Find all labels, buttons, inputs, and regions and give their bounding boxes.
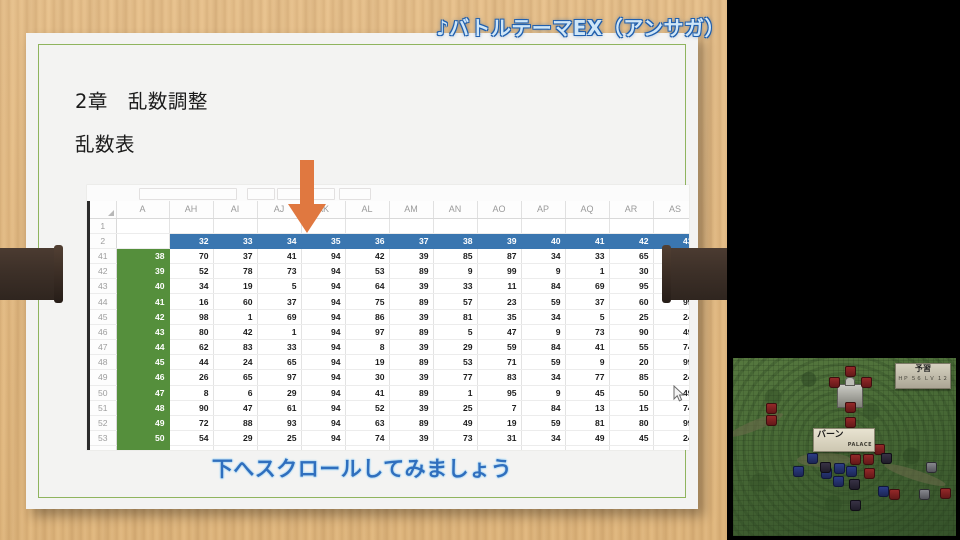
cell-AP[interactable]: 84: [521, 340, 565, 355]
row-number-53[interactable]: 53: [90, 431, 116, 446]
column-header-AH[interactable]: AH: [169, 201, 213, 218]
hud-stats: ＨＰ ５６ ＬＶ １２: [895, 375, 951, 383]
cell-AQ[interactable]: [565, 218, 609, 233]
cell-AO[interactable]: 87: [477, 248, 521, 263]
table-row[interactable]: 504786299441891959455049: [90, 385, 689, 400]
cell-AS[interactable]: 24: [653, 370, 689, 385]
cell-AM[interactable]: 89: [389, 385, 433, 400]
table-row[interactable]: 1: [90, 218, 689, 233]
cell-AR[interactable]: 25: [609, 309, 653, 324]
cell-AI[interactable]: 70: [213, 446, 257, 450]
column-header-AI[interactable]: AI: [213, 201, 257, 218]
cell-AO[interactable]: 11: [477, 279, 521, 294]
row-number-43[interactable]: 43: [90, 279, 116, 294]
row-number-54[interactable]: 54: [90, 446, 116, 450]
cell-AS[interactable]: 43: [653, 233, 689, 248]
column-header-AP[interactable]: AP: [521, 201, 565, 218]
cell-A[interactable]: 40: [116, 279, 169, 294]
cell-AJ[interactable]: 73: [257, 264, 301, 279]
cell-A[interactable]: 38: [116, 248, 169, 263]
cell-AH[interactable]: 36: [169, 446, 213, 450]
cell-AP[interactable]: 84: [521, 279, 565, 294]
cell-AR[interactable]: 60: [609, 294, 653, 309]
cell-AQ[interactable]: 17: [565, 446, 609, 450]
cell-AM[interactable]: 39: [389, 248, 433, 263]
cell-AS[interactable]: 99: [653, 355, 689, 370]
cell-AH[interactable]: 52: [169, 264, 213, 279]
cell-AK[interactable]: 94: [301, 248, 345, 263]
cell-AR[interactable]: 95: [609, 279, 653, 294]
cell-AL[interactable]: 52: [345, 400, 389, 415]
cell-AR[interactable]: 30: [609, 264, 653, 279]
cell-AO[interactable]: 83: [477, 370, 521, 385]
cell-AO[interactable]: 95: [477, 385, 521, 400]
cell-AQ[interactable]: 69: [565, 279, 609, 294]
map-place-subtitle: PALACE: [817, 442, 872, 449]
cell-AK[interactable]: 35: [301, 233, 345, 248]
cell-A[interactable]: 46: [116, 370, 169, 385]
cell-AN[interactable]: 85: [433, 248, 477, 263]
cell-AH[interactable]: 98: [169, 309, 213, 324]
table-row[interactable]: 4138703741944239858734336524: [90, 248, 689, 263]
cell-AL[interactable]: 75: [345, 294, 389, 309]
cell-AQ[interactable]: 9: [565, 355, 609, 370]
name-box-ghost-text: [143, 189, 145, 195]
cell-AK[interactable]: 94: [301, 370, 345, 385]
cell-AJ[interactable]: 65: [257, 355, 301, 370]
cell-AR[interactable]: 90: [609, 324, 653, 339]
cell-AJ[interactable]: 93: [257, 415, 301, 430]
table-row[interactable]: 484544246594198953715992099: [90, 355, 689, 370]
cell-AQ[interactable]: 77: [565, 370, 609, 385]
cell-AS[interactable]: 99: [653, 415, 689, 430]
cell-AR[interactable]: 55: [609, 340, 653, 355]
cell-AL[interactable]: 8: [345, 340, 389, 355]
cell-AL[interactable]: 19: [345, 355, 389, 370]
cell-AJ[interactable]: 57: [257, 446, 301, 450]
cell-AM[interactable]: [389, 218, 433, 233]
cell-AI[interactable]: 78: [213, 264, 257, 279]
cell-AJ[interactable]: 1: [257, 324, 301, 339]
cell-AM[interactable]: 89: [389, 264, 433, 279]
cell-AN[interactable]: 33: [433, 279, 477, 294]
cell-A[interactable]: 50: [116, 431, 169, 446]
cell-AM[interactable]: 89: [389, 355, 433, 370]
row-number-48[interactable]: 48: [90, 355, 116, 370]
cell-AQ[interactable]: 41: [565, 233, 609, 248]
cell-A[interactable]: 39: [116, 264, 169, 279]
wooden-rod-right: [667, 248, 727, 300]
cell-AK[interactable]: 94: [301, 385, 345, 400]
cell-AM[interactable]: 39: [389, 400, 433, 415]
other-unit: [881, 453, 892, 464]
cell-AR[interactable]: [609, 218, 653, 233]
cell-AO[interactable]: 71: [477, 355, 521, 370]
cell-AH[interactable]: 90: [169, 400, 213, 415]
cell-AI[interactable]: 19: [213, 279, 257, 294]
row-number-1[interactable]: 1: [90, 218, 116, 233]
enemy-unit: [845, 417, 856, 428]
rod-cap-left: [54, 245, 63, 303]
row-number-2[interactable]: 2: [90, 233, 116, 248]
cell-AO[interactable]: 7: [477, 400, 521, 415]
cell-AJ[interactable]: 69: [257, 309, 301, 324]
cell-A[interactable]: 45: [116, 355, 169, 370]
cell-AI[interactable]: 1: [213, 309, 257, 324]
cell-AL[interactable]: 30: [345, 370, 389, 385]
table-row[interactable]: 514890476194523925784131574: [90, 400, 689, 415]
column-header-A[interactable]: A: [116, 201, 169, 218]
cell-AL[interactable]: 42: [345, 248, 389, 263]
cell-AP[interactable]: 9: [521, 264, 565, 279]
cell-AN[interactable]: 57: [433, 294, 477, 309]
cell-AM[interactable]: 39: [389, 431, 433, 446]
table-row[interactable]: 474462833394839295984415574: [90, 340, 689, 355]
table-row[interactable]: 4239527873945389999913049: [90, 264, 689, 279]
cell-AK[interactable]: 94: [301, 415, 345, 430]
cell-AH[interactable]: 54: [169, 431, 213, 446]
cell-AK[interactable]: 94: [301, 431, 345, 446]
cell-AM[interactable]: 89: [389, 415, 433, 430]
slide-caption: 下へスクロールしてみましょう: [26, 453, 698, 483]
cell-AR[interactable]: 45: [609, 431, 653, 446]
cell-AN[interactable]: 38: [433, 233, 477, 248]
cell-AO[interactable]: 43: [477, 446, 521, 450]
cell-AK[interactable]: 94: [301, 279, 345, 294]
player-unit: [807, 453, 818, 464]
cell-AQ[interactable]: 37: [565, 294, 609, 309]
cell-AN[interactable]: 97: [433, 446, 477, 450]
cell-AQ[interactable]: 33: [565, 248, 609, 263]
cell-AK[interactable]: 94: [301, 324, 345, 339]
cell-AI[interactable]: [213, 218, 257, 233]
cell-AN[interactable]: 49: [433, 415, 477, 430]
cell-AJ[interactable]: 34: [257, 233, 301, 248]
cell-AR[interactable]: 85: [609, 370, 653, 385]
cell-AL[interactable]: 74: [345, 431, 389, 446]
cell-AM[interactable]: 39: [389, 309, 433, 324]
cell-AP[interactable]: 9: [521, 324, 565, 339]
column-header-AL[interactable]: AL: [345, 201, 389, 218]
cell-AM[interactable]: 37: [389, 233, 433, 248]
table-row[interactable]: 5249728893946389491959818099: [90, 415, 689, 430]
screen-capture: ♪バトルテーマEX（アンサガ） 2章 乱数調整 乱数表: [0, 0, 960, 540]
column-header-AQ[interactable]: AQ: [565, 201, 609, 218]
column-header-AS[interactable]: AS: [653, 201, 689, 218]
cell-AM[interactable]: 89: [389, 294, 433, 309]
cell-A[interactable]: 44: [116, 340, 169, 355]
cell-AN[interactable]: 77: [433, 370, 477, 385]
select-all-corner[interactable]: [90, 201, 116, 218]
cell-AL[interactable]: 97: [345, 324, 389, 339]
cell-AR[interactable]: 20: [609, 355, 653, 370]
presentation-slide: 2章 乱数調整 乱数表: [26, 33, 698, 509]
table-row[interactable]: 4946266597943039778334778524: [90, 370, 689, 385]
name-box: [139, 188, 237, 200]
cell-AN[interactable]: 9: [433, 264, 477, 279]
toolbar-chip-1: [247, 188, 275, 200]
cell-A[interactable]: 51: [116, 446, 169, 450]
column-header-AO[interactable]: AO: [477, 201, 521, 218]
cell-AP[interactable]: 34: [521, 431, 565, 446]
table-row[interactable]: 4441166037947589572359376099: [90, 294, 689, 309]
down-arrow-icon: [287, 160, 327, 234]
row-number-50[interactable]: 50: [90, 385, 116, 400]
cell-AL[interactable]: 63: [345, 415, 389, 430]
enemy-unit: [766, 415, 777, 426]
cell-AQ[interactable]: 81: [565, 415, 609, 430]
other-unit: [919, 489, 930, 500]
cell-AH[interactable]: 62: [169, 340, 213, 355]
cell-AS[interactable]: 49: [653, 324, 689, 339]
row-number-42[interactable]: 42: [90, 264, 116, 279]
other-unit: [926, 462, 937, 473]
cell-AI[interactable]: 37: [213, 248, 257, 263]
enemy-unit: [845, 402, 856, 413]
player-unit: [878, 486, 889, 497]
row-number-49[interactable]: 49: [90, 370, 116, 385]
enemy-unit: [845, 366, 856, 377]
cell-AK[interactable]: 94: [301, 294, 345, 309]
wooden-rod-left: [0, 248, 58, 300]
cell-AO[interactable]: 39: [477, 233, 521, 248]
cell-AJ[interactable]: 61: [257, 400, 301, 415]
row-number-46[interactable]: 46: [90, 324, 116, 339]
cell-AP[interactable]: 40: [521, 233, 565, 248]
cell-AN[interactable]: 29: [433, 340, 477, 355]
cell-AP[interactable]: 34: [521, 370, 565, 385]
slide-heading-table: 乱数表: [75, 128, 135, 157]
enemy-unit: [766, 403, 777, 414]
cell-AN[interactable]: [433, 218, 477, 233]
player-unit: [834, 463, 845, 474]
cell-AS[interactable]: 74: [653, 340, 689, 355]
cell-A[interactable]: 41: [116, 294, 169, 309]
cell-A[interactable]: 43: [116, 324, 169, 339]
game-hud-panel: 予習 ＨＰ ５６ ＬＶ １２: [895, 363, 951, 389]
mouse-cursor-icon: [673, 385, 686, 403]
cell-AI[interactable]: 60: [213, 294, 257, 309]
cell-A[interactable]: 48: [116, 400, 169, 415]
row-number-41[interactable]: 41: [90, 248, 116, 263]
cell-AI[interactable]: 24: [213, 355, 257, 370]
row-number-52[interactable]: 52: [90, 415, 116, 430]
row-number-45[interactable]: 45: [90, 309, 116, 324]
cell-AQ[interactable]: 41: [565, 340, 609, 355]
cell-AO[interactable]: 59: [477, 340, 521, 355]
cell-AL[interactable]: 53: [345, 264, 389, 279]
cell-AR[interactable]: 10: [609, 446, 653, 450]
cell-AH[interactable]: 44: [169, 355, 213, 370]
row-number-47[interactable]: 47: [90, 340, 116, 355]
cell-AK[interactable]: 94: [301, 340, 345, 355]
cell-AJ[interactable]: 41: [257, 248, 301, 263]
cell-AR[interactable]: 15: [609, 400, 653, 415]
cell-AI[interactable]: 65: [213, 370, 257, 385]
cell-AS[interactable]: 24: [653, 431, 689, 446]
cell-AL[interactable]: [345, 218, 389, 233]
cell-AH[interactable]: 80: [169, 324, 213, 339]
cell-AS[interactable]: 49: [653, 446, 689, 450]
cell-AP[interactable]: 9: [521, 385, 565, 400]
map-place-name: バーン: [817, 430, 844, 440]
cell-AN[interactable]: 81: [433, 309, 477, 324]
table-body: 1232333435363738394041424341387037419442…: [90, 218, 689, 450]
player-unit: [846, 466, 857, 477]
cell-AN[interactable]: 1: [433, 385, 477, 400]
cell-AR[interactable]: 42: [609, 233, 653, 248]
cell-AH[interactable]: 8: [169, 385, 213, 400]
cell-AR[interactable]: 50: [609, 385, 653, 400]
cell-AL[interactable]: 36: [345, 233, 389, 248]
cell-AK[interactable]: 94: [301, 264, 345, 279]
cell-AR[interactable]: 65: [609, 248, 653, 263]
cell-AH[interactable]: 34: [169, 279, 213, 294]
cell-AI[interactable]: 83: [213, 340, 257, 355]
toolbar-chip-4: [339, 188, 371, 200]
excel-toolbar-strip: [87, 185, 689, 202]
cell-AK[interactable]: 94: [301, 355, 345, 370]
cell-AK[interactable]: 94: [301, 309, 345, 324]
cell-AO[interactable]: 23: [477, 294, 521, 309]
cell-AI[interactable]: 33: [213, 233, 257, 248]
player-unit: [793, 466, 804, 477]
other-unit: [820, 462, 831, 473]
cell-AM[interactable]: 39: [389, 279, 433, 294]
cell-AM[interactable]: 89: [389, 324, 433, 339]
cell-AL[interactable]: 41: [345, 385, 389, 400]
table-row[interactable]: 4643804219497895479739049: [90, 324, 689, 339]
bgm-overlay-title: ♪バトルテーマEX（アンサガ）: [380, 12, 725, 41]
cell-AL[interactable]: 85: [345, 446, 389, 450]
enemy-unit: [829, 377, 840, 388]
cell-AO[interactable]: 99: [477, 264, 521, 279]
column-header-row[interactable]: A AH AI AJ AK AL AM AN AO AP AQ AR AS AT: [90, 201, 689, 218]
column-header-AM[interactable]: AM: [389, 201, 433, 218]
table-row[interactable]: 45429816994863981353452524: [90, 309, 689, 324]
slide-heading-chapter: 2章 乱数調整: [75, 85, 208, 114]
table-row[interactable]: 545136705794858997439171049: [90, 446, 689, 450]
enemy-unit: [861, 377, 872, 388]
cell-AH[interactable]: 72: [169, 415, 213, 430]
cell-AO[interactable]: 19: [477, 415, 521, 430]
cell-AO[interactable]: [477, 218, 521, 233]
cell-AL[interactable]: 64: [345, 279, 389, 294]
column-header-AR[interactable]: AR: [609, 201, 653, 218]
cell-AI[interactable]: 42: [213, 324, 257, 339]
cell-AP[interactable]: 84: [521, 400, 565, 415]
cell-AR[interactable]: 80: [609, 415, 653, 430]
row-number-44[interactable]: 44: [90, 294, 116, 309]
enemy-unit: [889, 489, 900, 500]
cell-AN[interactable]: 53: [433, 355, 477, 370]
cell-AJ[interactable]: 25: [257, 431, 301, 446]
cell-AJ[interactable]: 97: [257, 370, 301, 385]
cell-AQ[interactable]: 1: [565, 264, 609, 279]
cell-AS[interactable]: [653, 218, 689, 233]
cell-AK[interactable]: 94: [301, 400, 345, 415]
cell-AM[interactable]: 39: [389, 340, 433, 355]
table-row[interactable]: 2323334353637383940414243: [90, 233, 689, 248]
cell-AN[interactable]: 73: [433, 431, 477, 446]
cell-A[interactable]: [116, 218, 169, 233]
cell-AP[interactable]: 34: [521, 309, 565, 324]
other-unit: [849, 479, 860, 490]
cell-A[interactable]: 47: [116, 385, 169, 400]
cell-AH[interactable]: 26: [169, 370, 213, 385]
cell-AJ[interactable]: 29: [257, 385, 301, 400]
excel-screenshot: A AH AI AJ AK AL AM AN AO AP AQ AR AS AT: [87, 185, 689, 450]
enemy-unit: [940, 488, 951, 499]
cell-AI[interactable]: 47: [213, 400, 257, 415]
cell-AL[interactable]: 86: [345, 309, 389, 324]
cell-A[interactable]: 49: [116, 415, 169, 430]
cell-AQ[interactable]: 5: [565, 309, 609, 324]
cell-AK[interactable]: 94: [301, 446, 345, 450]
table-row[interactable]: 5350542925947439733134494524: [90, 431, 689, 446]
rod-cap-right: [662, 245, 671, 303]
cell-AI[interactable]: 88: [213, 415, 257, 430]
cell-AP[interactable]: 59: [521, 355, 565, 370]
cell-AP[interactable]: 9: [521, 446, 565, 450]
cell-AO[interactable]: 31: [477, 431, 521, 446]
row-number-51[interactable]: 51: [90, 400, 116, 415]
cell-AN[interactable]: 5: [433, 324, 477, 339]
cell-AI[interactable]: 6: [213, 385, 257, 400]
cell-AJ[interactable]: 37: [257, 294, 301, 309]
column-header-AN[interactable]: AN: [433, 201, 477, 218]
cell-AQ[interactable]: 45: [565, 385, 609, 400]
cell-AQ[interactable]: 13: [565, 400, 609, 415]
cell-AP[interactable]: 34: [521, 248, 565, 263]
cell-AJ[interactable]: 5: [257, 279, 301, 294]
cell-AH[interactable]: [169, 218, 213, 233]
bgm-title-text: ♪バトルテーマEX（アンサガ）: [436, 16, 725, 40]
cell-AJ[interactable]: 33: [257, 340, 301, 355]
hud-title: 予習: [895, 363, 951, 375]
cell-AN[interactable]: 25: [433, 400, 477, 415]
cell-AS[interactable]: 24: [653, 309, 689, 324]
cell-AQ[interactable]: 73: [565, 324, 609, 339]
cell-AP[interactable]: 59: [521, 294, 565, 309]
cell-AM[interactable]: 89: [389, 446, 433, 450]
map-place-label: バーン PALACE: [813, 428, 875, 452]
cell-A[interactable]: [116, 233, 169, 248]
other-unit: [850, 500, 861, 511]
cell-AM[interactable]: 39: [389, 370, 433, 385]
random-number-table[interactable]: A AH AI AJ AK AL AM AN AO AP AQ AR AS AT: [90, 201, 689, 450]
enemy-unit: [863, 454, 874, 465]
table-row[interactable]: 434034195946439331184699574: [90, 279, 689, 294]
cell-AO[interactable]: 35: [477, 309, 521, 324]
cell-AQ[interactable]: 49: [565, 431, 609, 446]
cell-AH[interactable]: 16: [169, 294, 213, 309]
game-capture-panel: バーン PALACE 予習 ＨＰ ５６ ＬＶ １２: [733, 358, 956, 536]
cell-AH[interactable]: 32: [169, 233, 213, 248]
cell-AO[interactable]: 47: [477, 324, 521, 339]
cell-AI[interactable]: 29: [213, 431, 257, 446]
cell-AP[interactable]: 59: [521, 415, 565, 430]
cell-A[interactable]: 42: [116, 309, 169, 324]
enemy-unit: [850, 454, 861, 465]
cell-AH[interactable]: 70: [169, 248, 213, 263]
enemy-unit: [864, 468, 875, 479]
player-unit: [833, 476, 844, 487]
cell-AP[interactable]: [521, 218, 565, 233]
